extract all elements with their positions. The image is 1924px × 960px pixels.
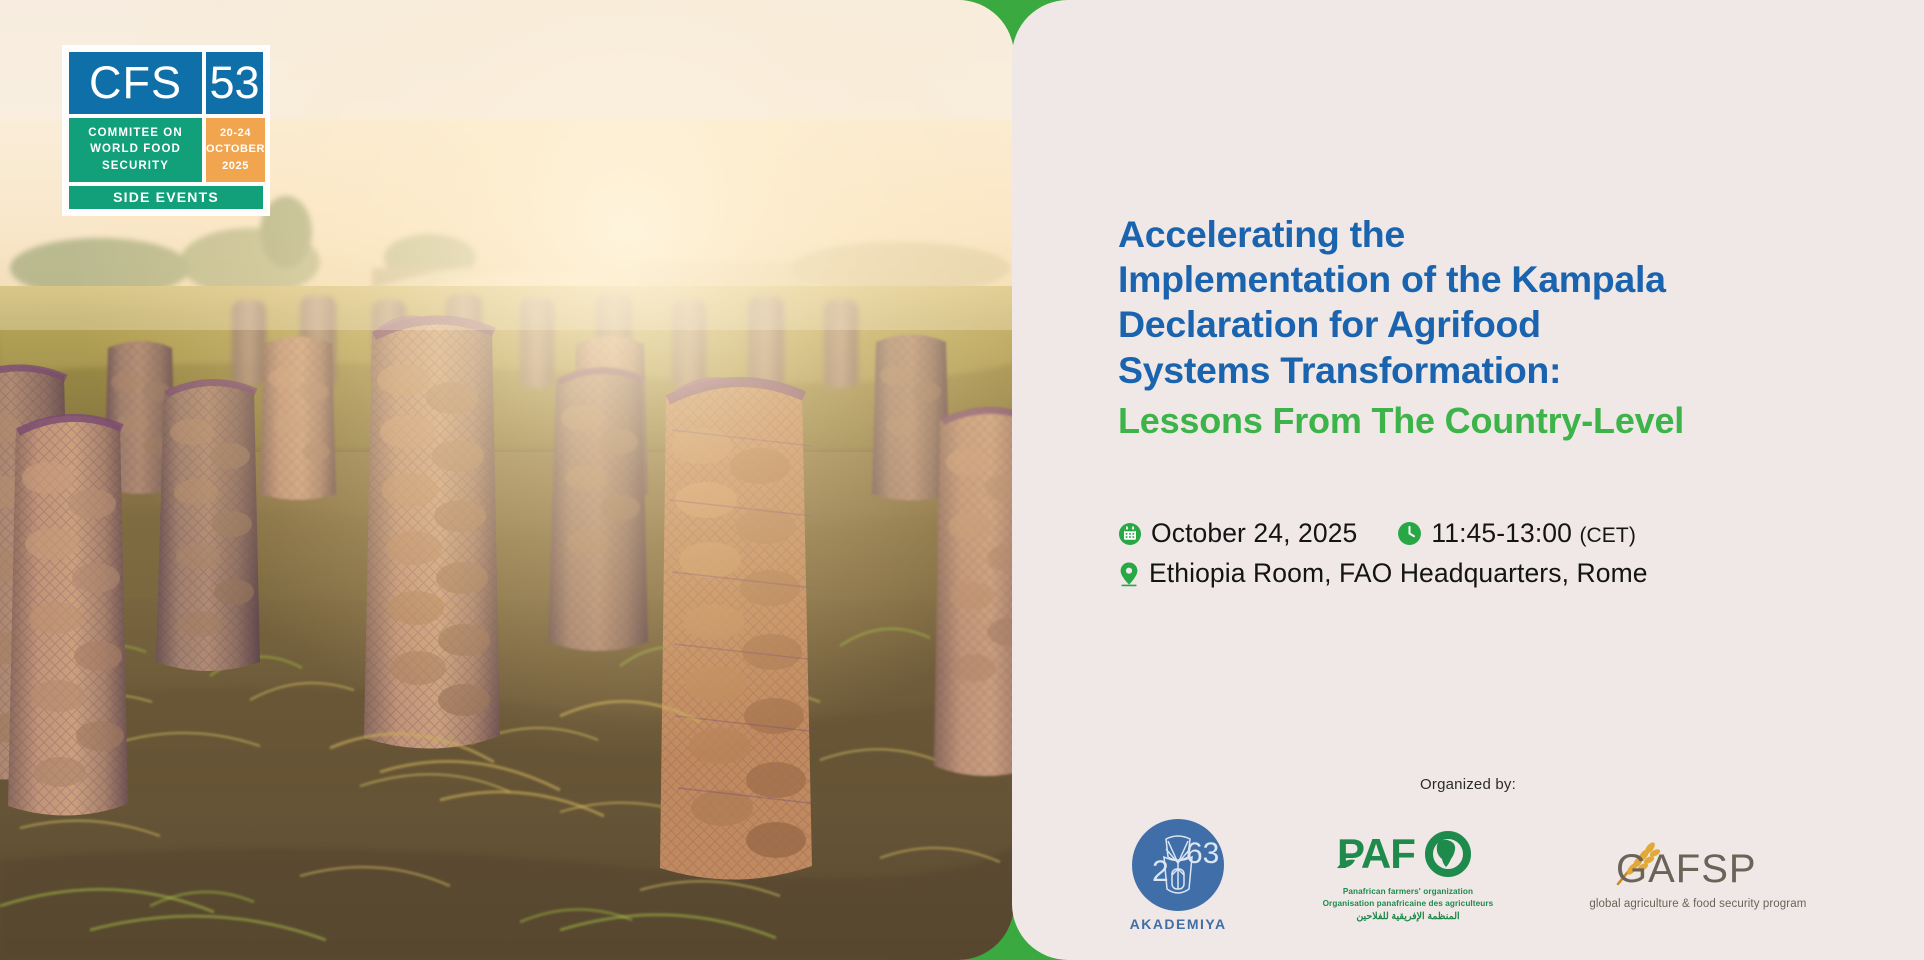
event-time-item: 11:45-13:00 (CET) (1397, 518, 1636, 549)
akademiya2063-mark: 2 63 (1132, 819, 1224, 911)
event-timezone: (CET) (1579, 524, 1636, 547)
event-title-block: Accelerating the Implementation of the K… (1118, 212, 1858, 442)
cfs-dates-tile: 20-24 OCTOBER 2025 (206, 118, 265, 182)
cfs-acronym: CFS (89, 60, 182, 105)
event-venue-item: Ethiopia Room, FAO Headquarters, Rome (1118, 558, 1648, 589)
cfs-dates: 20-24 OCTOBER 2025 (206, 125, 265, 175)
organizer-logos: 2 63 AKADEMIYA PAF Panafrican farmers' o… (1012, 800, 1924, 950)
event-details: October 24, 2025 11:45-13:00 (CET) (1118, 518, 1878, 598)
event-date: October 24, 2025 (1151, 518, 1357, 549)
event-date-item: October 24, 2025 (1118, 518, 1357, 549)
event-time: 11:45-13:00 (CET) (1431, 518, 1636, 549)
event-title-line-2: Implementation of the Kampala (1118, 257, 1858, 302)
cfs-committee-line-1: COMMITEE ON (88, 127, 183, 139)
cfs-session-number-tile: 53 (206, 52, 263, 114)
cfs-dates-line-1: 20-24 (220, 127, 251, 139)
gafsp-logo: GAFSP global agriculture & food security… (1589, 840, 1806, 910)
pafo-tagline-ar: المنظمة الإفريقية للفلاحين (1356, 911, 1459, 922)
cfs-side-events-label: SIDE EVENTS (113, 189, 219, 205)
akademiya2063-logo: 2 63 AKADEMIYA (1130, 819, 1227, 932)
event-time-range: 11:45-13:00 (1431, 518, 1572, 548)
akademiya2063-wordmark: AKADEMIYA (1130, 916, 1227, 932)
organized-by-label: Organized by: (1012, 776, 1924, 793)
cfs-committee-name-tile: COMMITEE ON WORLD FOOD SECURITY (69, 118, 202, 182)
cfs-committee-line-2: WORLD FOOD (90, 143, 181, 155)
svg-text:63: 63 (1186, 837, 1219, 870)
event-title: Accelerating the Implementation of the K… (1118, 212, 1858, 393)
event-venue: Ethiopia Room, FAO Headquarters, Rome (1149, 558, 1648, 589)
event-banner: CFS 53 COMMITEE ON WORLD FOOD SECURITY 2… (0, 0, 1924, 960)
gafsp-tagline: global agriculture & food security progr… (1589, 898, 1806, 910)
event-info-panel: Accelerating the Implementation of the K… (1012, 0, 1924, 960)
location-pin-icon (1118, 561, 1140, 587)
event-title-line-1: Accelerating the (1118, 212, 1858, 257)
event-date-time-row: October 24, 2025 11:45-13:00 (CET) (1118, 518, 1878, 549)
clock-icon (1397, 521, 1422, 546)
svg-text:2: 2 (1152, 855, 1169, 888)
svg-text:GAFSP: GAFSP (1616, 847, 1757, 891)
event-subtitle: Lessons From The Country-Level (1118, 399, 1858, 442)
cfs-dates-line-2: OCTOBER (206, 143, 265, 155)
calendar-icon (1118, 522, 1142, 546)
cfs-dates-line-3: 2025 (222, 160, 249, 172)
event-title-line-3: Declaration for Agrifood (1118, 302, 1858, 347)
cfs-logo-top-row: CFS 53 (69, 52, 263, 114)
cfs-acronym-tile: CFS (69, 52, 202, 114)
pafo-tagline-fr: Organisation panafricaine des agriculteu… (1323, 899, 1494, 910)
cfs-committee-line-3: SECURITY (102, 160, 169, 172)
pafo-logo: PAF Panafrican farmers' organization Org… (1323, 828, 1494, 922)
cfs-session-number: 53 (209, 60, 259, 105)
svg-text:PAF: PAF (1337, 830, 1415, 877)
event-title-line-4: Systems Transformation: (1118, 348, 1858, 393)
pafo-mark: PAF (1335, 828, 1481, 886)
cfs-side-events-tile: SIDE EVENTS (69, 186, 263, 209)
cfs-committee-name: COMMITEE ON WORLD FOOD SECURITY (88, 125, 183, 175)
pafo-tagline-en: Panafrican farmers' organization (1343, 887, 1473, 898)
gafsp-mark: GAFSP (1612, 840, 1784, 896)
cfs-logo-middle-row: COMMITEE ON WORLD FOOD SECURITY 20-24 OC… (69, 118, 263, 182)
event-venue-row: Ethiopia Room, FAO Headquarters, Rome (1118, 558, 1878, 589)
cfs-53-logo: CFS 53 COMMITEE ON WORLD FOOD SECURITY 2… (62, 45, 270, 216)
hero-photo-panel: CFS 53 COMMITEE ON WORLD FOOD SECURITY 2… (0, 0, 1014, 960)
